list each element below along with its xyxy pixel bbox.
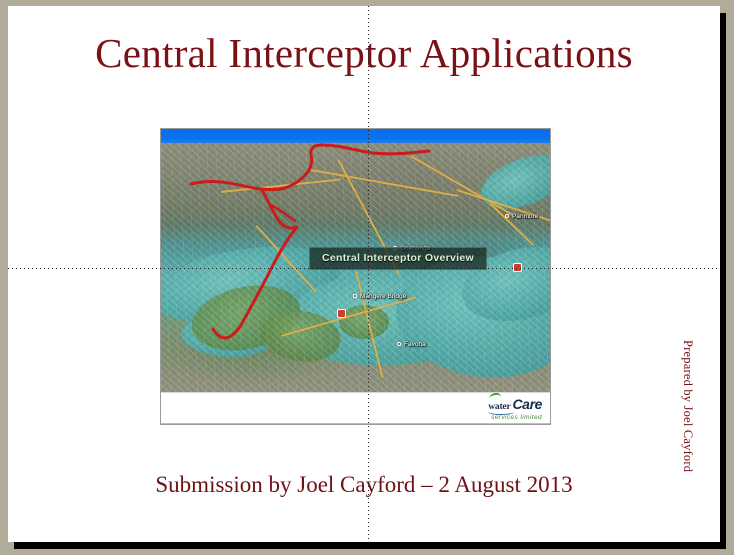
logo-wordmark: water Care bbox=[488, 397, 542, 414]
map-overlay-caption: Central Interceptor Overview bbox=[309, 247, 487, 270]
media-object-central-interceptor-video[interactable]: Mangere Bridge Favona Onehunga Panmure C… bbox=[160, 128, 551, 425]
map-place-label: Favona bbox=[397, 341, 426, 348]
side-note-prepared-by: Prepared by Joel Cayford bbox=[680, 340, 695, 472]
media-footer-strip: water Care services limited bbox=[161, 392, 550, 424]
highway-shield-icon bbox=[513, 263, 522, 272]
page-subtitle: Submission by Joel Cayford – 2 August 20… bbox=[8, 472, 720, 498]
slide-canvas: Central Interceptor Applications bbox=[0, 0, 734, 555]
place-marker-dot bbox=[353, 294, 357, 298]
watercare-logo: water Care services limited bbox=[488, 397, 542, 421]
logo-wave-icon bbox=[488, 412, 514, 415]
logo-tagline: services limited bbox=[488, 415, 542, 422]
map-place-label: Mangere Bridge bbox=[353, 293, 406, 300]
highway-shield-icon bbox=[337, 309, 346, 318]
place-marker-dot bbox=[505, 214, 509, 218]
logo-swoosh-icon bbox=[489, 392, 501, 398]
logo-word-care: Care bbox=[512, 397, 542, 411]
page-title: Central Interceptor Applications bbox=[8, 32, 720, 75]
slide-page: Central Interceptor Applications bbox=[8, 6, 720, 542]
map-canvas: Mangere Bridge Favona Onehunga Panmure C… bbox=[161, 129, 550, 392]
place-marker-dot bbox=[397, 342, 401, 346]
map-place-label: Panmure bbox=[505, 213, 538, 220]
